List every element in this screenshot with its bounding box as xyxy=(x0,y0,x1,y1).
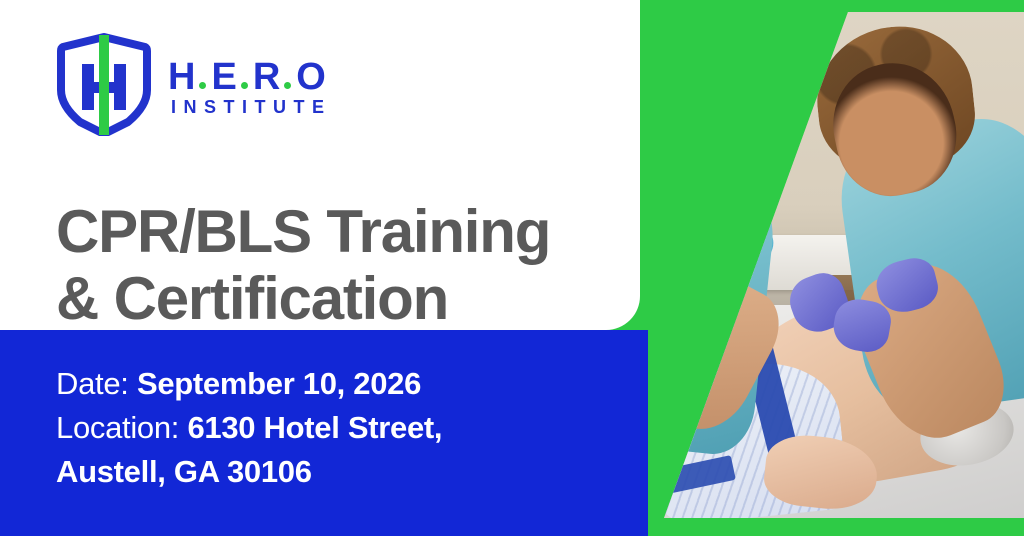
brand-letter-h: H xyxy=(168,58,196,96)
page-title: CPR/BLS Training & Certification xyxy=(56,198,616,332)
page-title-line-2: & Certification xyxy=(56,265,616,332)
brand-letter-o: O xyxy=(296,58,327,96)
date-value: September 10, 2026 xyxy=(137,366,421,401)
event-location-row: Location: 6130 Hotel Street, xyxy=(56,406,442,450)
brand-name-secondary: INSTITUTE xyxy=(168,98,332,116)
event-details: Date: September 10, 2026 Location: 6130 … xyxy=(56,362,442,494)
brand-letter-e: E xyxy=(211,58,237,96)
brand-wordmark: H E R O INSTITUTE xyxy=(168,52,332,116)
iv-tube-line xyxy=(665,266,693,416)
location-value-line-2: Austell, GA 30106 xyxy=(56,454,312,489)
student-left-head xyxy=(621,24,779,183)
date-label: Date: xyxy=(56,366,129,401)
event-date-row: Date: September 10, 2026 xyxy=(56,362,442,406)
brand-dot-1 xyxy=(199,82,206,89)
location-label: Location: xyxy=(56,410,179,445)
shield-h-icon xyxy=(56,32,152,136)
location-value-line-1: 6130 Hotel Street, xyxy=(187,410,442,445)
brand-dot-3 xyxy=(284,82,291,89)
flyer-canvas: H E R O INSTITUTE CPR/BLS Training & Cer… xyxy=(0,0,1024,536)
training-photo xyxy=(592,12,1024,518)
brand-letter-r: R xyxy=(253,58,281,96)
brand-name-primary: H E R O xyxy=(168,58,332,96)
brand-logo[interactable]: H E R O INSTITUTE xyxy=(56,32,332,136)
page-title-line-1: CPR/BLS Training xyxy=(56,198,550,265)
photo-inner xyxy=(592,12,1024,518)
brand-dot-2 xyxy=(241,82,248,89)
event-location-row-2: Austell, GA 30106 xyxy=(56,450,442,494)
